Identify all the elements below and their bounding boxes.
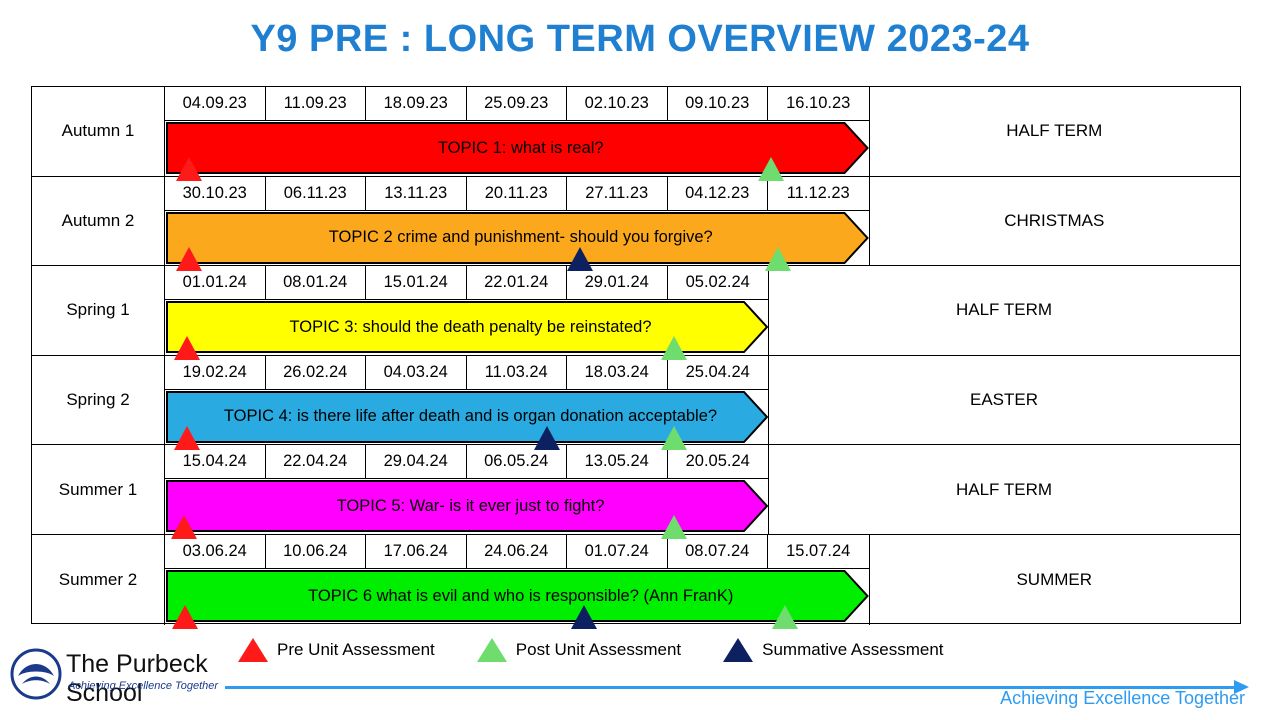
date-cell: 10.06.24 [266,535,367,569]
topic-label: TOPIC 1: what is real? [432,139,604,158]
holiday-cell: EASTER [768,356,1239,445]
date-cell: 11.03.24 [467,356,568,390]
holiday-cell: SUMMER [869,535,1240,625]
assessment-marker-pre [176,157,202,181]
assessment-marker-pre [174,336,200,360]
term-label: Summer 2 [32,535,165,625]
assessment-marker-pre [171,515,197,539]
table-row: Autumn 104.09.2311.09.2318.09.2325.09.23… [32,87,1240,177]
assessment-marker-pre [176,247,202,271]
legend-item: Summative Assessment [723,638,943,662]
date-cell: 22.01.24 [467,266,568,300]
table-row: Spring 219.02.2426.02.2404.03.2411.03.24… [32,356,1240,446]
logo-mark-icon [8,646,64,706]
date-header-row: 30.10.2306.11.2313.11.2320.11.2327.11.23… [165,177,869,211]
date-cell: 04.03.24 [366,356,467,390]
term-label: Spring 2 [32,356,165,445]
date-cell: 15.07.24 [768,535,869,569]
date-cell: 08.07.24 [668,535,769,569]
date-cell: 04.09.23 [165,87,266,121]
footer-tagline: Achieving Excellence Together [1000,688,1245,709]
date-header-row: 03.06.2410.06.2417.06.2424.06.2401.07.24… [165,535,869,569]
date-cell: 01.01.24 [165,266,266,300]
date-header-row: 19.02.2426.02.2404.03.2411.03.2418.03.24… [165,356,768,390]
date-cell: 01.07.24 [567,535,668,569]
topic-arrow: TOPIC 5: War- is it ever just to fight? [165,479,770,533]
assessment-marker-post [758,157,784,181]
topic-label: TOPIC 5: War- is it ever just to fight? [331,497,605,516]
legend-label: Summative Assessment [762,640,943,660]
date-cell: 27.11.23 [567,177,668,211]
date-cell: 26.02.24 [266,356,367,390]
assessment-marker-summative [571,605,597,629]
table-row: Summer 203.06.2410.06.2417.06.2424.06.24… [32,535,1240,625]
overview-table: Autumn 104.09.2311.09.2318.09.2325.09.23… [31,86,1241,624]
date-cell: 25.09.23 [467,87,568,121]
legend-item: Post Unit Assessment [477,638,681,662]
school-logo: The Purbeck School Achieving Excellence … [8,646,238,714]
date-cell: 03.06.24 [165,535,266,569]
term-label: Spring 1 [32,266,165,355]
date-header-row: 15.04.2422.04.2429.04.2406.05.2413.05.24… [165,445,768,479]
assessment-marker-post [661,515,687,539]
date-cell: 18.09.23 [366,87,467,121]
legend-triangle-icon [238,638,268,662]
topic-label: TOPIC 6 what is evil and who is responsi… [302,587,733,606]
topic-arrow: TOPIC 1: what is real? [165,121,871,175]
table-row: Spring 101.01.2408.01.2415.01.2422.01.24… [32,266,1240,356]
table-row: Summer 115.04.2422.04.2429.04.2406.05.24… [32,445,1240,535]
date-cell: 20.05.24 [668,445,769,479]
legend-label: Pre Unit Assessment [277,640,435,660]
date-cell: 13.05.24 [567,445,668,479]
page-title: Y9 PRE : LONG TERM OVERVIEW 2023-24 [0,18,1280,61]
table-row: Autumn 230.10.2306.11.2313.11.2320.11.23… [32,177,1240,267]
date-header-row: 04.09.2311.09.2318.09.2325.09.2302.10.23… [165,87,869,121]
legend-triangle-icon [723,638,753,662]
date-cell: 29.04.24 [366,445,467,479]
date-cell: 19.02.24 [165,356,266,390]
legend-item: Pre Unit Assessment [238,638,435,662]
date-cell: 15.01.24 [366,266,467,300]
date-cell: 16.10.23 [768,87,869,121]
date-cell: 18.03.24 [567,356,668,390]
date-header-row: 01.01.2408.01.2415.01.2422.01.2429.01.24… [165,266,768,300]
assessment-marker-post [772,605,798,629]
holiday-cell: CHRISTMAS [869,177,1240,266]
date-cell: 04.12.23 [668,177,769,211]
date-cell: 09.10.23 [668,87,769,121]
topic-label: TOPIC 2 crime and punishment- should you… [323,228,713,247]
topic-arrow: TOPIC 2 crime and punishment- should you… [165,211,871,265]
topic-arrow: TOPIC 6 what is evil and who is responsi… [165,569,871,623]
assessment-marker-pre [172,605,198,629]
assessment-marker-post [661,336,687,360]
topic-label: TOPIC 3: should the death penalty be rei… [283,318,651,337]
term-label: Autumn 1 [32,87,165,176]
date-cell: 02.10.23 [567,87,668,121]
legend-triangle-icon [477,638,507,662]
assessment-marker-post [765,247,791,271]
assessment-marker-summative [567,247,593,271]
holiday-cell: HALF TERM [768,266,1239,355]
topic-label: TOPIC 4: is there life after death and i… [218,407,717,426]
legend-label: Post Unit Assessment [516,640,681,660]
date-cell: 11.09.23 [266,87,367,121]
date-cell: 30.10.23 [165,177,266,211]
date-cell: 25.04.24 [668,356,769,390]
date-cell: 29.01.24 [567,266,668,300]
topic-arrow: TOPIC 3: should the death penalty be rei… [165,300,770,354]
holiday-cell: HALF TERM [869,87,1240,176]
date-cell: 17.06.24 [366,535,467,569]
school-name: The Purbeck School [66,650,238,708]
date-cell: 24.06.24 [467,535,568,569]
holiday-cell: HALF TERM [768,445,1239,534]
term-label: Summer 1 [32,445,165,534]
date-cell: 15.04.24 [165,445,266,479]
date-cell: 11.12.23 [768,177,869,211]
assessment-marker-summative [534,426,560,450]
date-cell: 06.05.24 [467,445,568,479]
date-cell: 20.11.23 [467,177,568,211]
date-cell: 08.01.24 [266,266,367,300]
school-sub: Achieving Excellence Together [68,680,218,692]
term-label: Autumn 2 [32,177,165,266]
date-cell: 13.11.23 [366,177,467,211]
assessment-marker-pre [174,426,200,450]
date-cell: 05.02.24 [668,266,769,300]
date-cell: 22.04.24 [266,445,367,479]
legend: Pre Unit AssessmentPost Unit AssessmentS… [238,638,986,662]
date-cell: 06.11.23 [266,177,367,211]
assessment-marker-post [661,426,687,450]
topic-arrow: TOPIC 4: is there life after death and i… [165,390,770,444]
